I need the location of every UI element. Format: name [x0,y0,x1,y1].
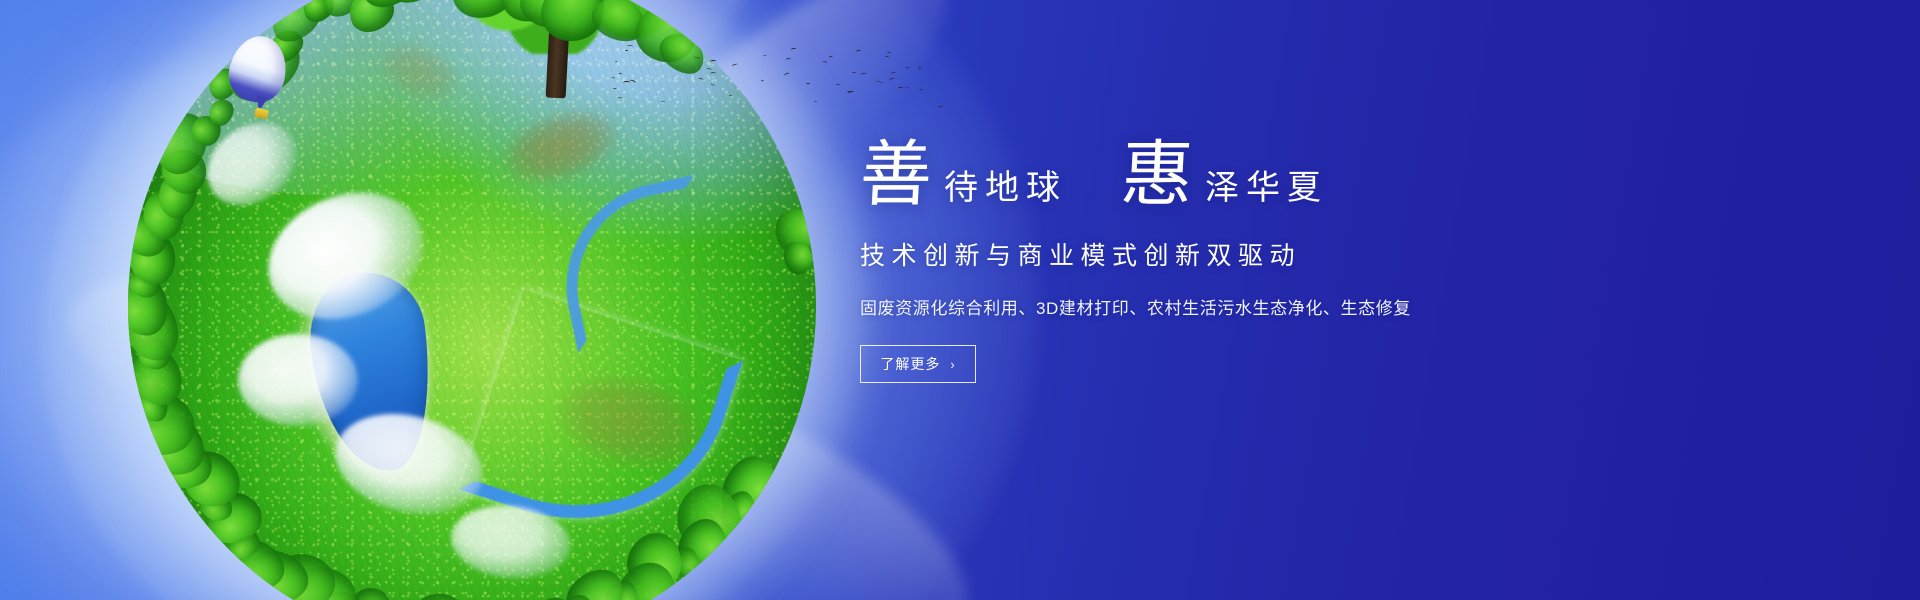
bird-icon [613,88,617,91]
bird-icon [694,56,700,61]
bird-icon [629,79,637,85]
headline-phrase-1: 善 待地球 [860,139,1067,210]
bird-icon [905,66,910,70]
bird-icon [623,81,630,85]
bird-icon [615,61,619,64]
hero-banner: 善 待地球 惠 泽华夏 技术创新与商业模式创新双驱动 固废资源化综合利用、3D建… [0,0,1920,600]
bird-icon [852,72,856,75]
bird-icon [661,101,666,104]
bird-icon [627,45,633,48]
bird-icon [856,50,861,54]
bird-icon [761,79,765,82]
bird-icon [898,86,903,89]
bird-icon [710,72,716,76]
bird-icon [806,83,810,85]
bird-icon [885,56,889,59]
bird-icon [617,97,622,100]
bird-icon [625,50,628,52]
bird-icon [611,76,616,79]
bird-icon [710,83,715,87]
hero-content: 善 待地球 惠 泽华夏 技术创新与商业模式创新双驱动 固废资源化综合利用、3D建… [860,124,1600,383]
bird-icon [918,66,921,68]
bird-icon [848,90,855,95]
bird-icon [762,54,766,57]
bird-icon [880,82,884,85]
bird-icon [785,58,790,62]
bird-icon [888,78,895,83]
bird-icon [887,51,891,54]
headline-char-shan: 善 [858,139,934,210]
bird-icon [918,89,923,92]
bird-icon [731,63,737,68]
bird-icon [619,73,623,75]
bird-icon [783,72,790,78]
subtitle: 技术创新与商业模式创新双驱动 [860,236,1600,272]
bird-icon [861,73,866,76]
bird-icon [728,95,732,98]
bird-icon [890,72,895,76]
bird-icon [829,55,833,58]
headline-text-daidiqiu: 待地球 [944,160,1067,209]
learn-more-label: 了解更多 [880,354,940,374]
headline: 善 待地球 惠 泽华夏 [860,124,1600,210]
description: 固废资源化综合利用、3D建材打印、农村生活污水生态净化、生态修复 [860,294,1600,319]
hot-air-balloon-icon [230,36,292,128]
bird-icon [814,101,818,103]
headline-text-zehuaxia: 泽华夏 [1205,160,1328,209]
bird-icon [905,87,909,90]
bird-icon [938,106,943,110]
bird-icon [835,84,839,87]
headline-phrase-2: 惠 泽华夏 [1121,139,1328,210]
learn-more-button[interactable]: 了解更多 › [860,345,976,383]
headline-char-hui: 惠 [1119,139,1195,210]
bird-icon [822,61,827,65]
balloon-basket [254,108,269,120]
bird-icon [698,78,704,82]
bird-icon [790,48,795,52]
chevron-right-icon: › [950,358,955,371]
surface-cloud [238,334,358,426]
birds-flock-icon [588,44,948,110]
bird-icon [710,60,716,63]
